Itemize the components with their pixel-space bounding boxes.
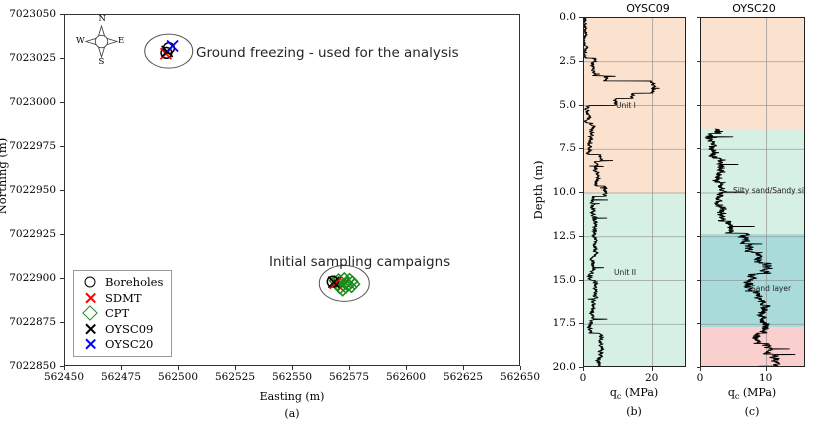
panel-c-title: OYSC20 bbox=[700, 2, 808, 15]
panel-b-ytick-label: 17.5 bbox=[553, 317, 576, 329]
x-marker-icon-blue bbox=[79, 337, 101, 352]
panel-a-ytick-label: 7022975 bbox=[9, 140, 56, 152]
panel-b-cpt-axes: Unit I Unit II bbox=[583, 17, 686, 367]
panel-b-xlabel-q: q bbox=[610, 386, 617, 399]
panel-a-xtick-label: 562450 bbox=[44, 371, 84, 383]
panel-a-xtick-label: 562500 bbox=[158, 371, 198, 383]
panel-a-ytick-mark bbox=[60, 102, 64, 103]
panel-a-ytick-label: 7023025 bbox=[9, 52, 56, 64]
cpt-qc-trace bbox=[584, 18, 659, 367]
panel-a-xlabel: Easting (m) bbox=[260, 390, 325, 403]
panel-c-caption: (c) bbox=[745, 405, 760, 418]
legend-label-cpt: CPT bbox=[105, 306, 129, 320]
panel-a-ytick-mark bbox=[60, 146, 64, 147]
panel-c-xtick-label: 10 bbox=[759, 372, 772, 384]
panel-a-xtick-label: 562550 bbox=[272, 371, 312, 383]
panel-b-ytick-mark bbox=[579, 105, 583, 106]
panel-c-ytick-mark bbox=[697, 192, 700, 193]
panel-c-xlabel-unit: (MPa) bbox=[739, 386, 776, 399]
panel-a-xtick-label: 562575 bbox=[329, 371, 369, 383]
legend-item-boreholes[interactable]: Boreholes bbox=[79, 275, 163, 291]
panel-b-xtick-label: 0 bbox=[580, 372, 587, 384]
panel-b-ytick-mark bbox=[579, 61, 583, 62]
panel-c-ytick-mark bbox=[697, 236, 700, 237]
panel-a-xtick-mark bbox=[292, 366, 293, 370]
panel-b-ytick-mark bbox=[579, 17, 583, 18]
panel-c-ytick-mark bbox=[697, 105, 700, 106]
panel-c-label-silty-sand: Silty sand/Sandy silt bbox=[733, 186, 805, 195]
panel-a-ytick-label: 7022875 bbox=[9, 316, 56, 328]
panel-a-caption: (a) bbox=[284, 407, 299, 420]
x-marker-icon-red bbox=[79, 290, 101, 305]
compass-west-label: W bbox=[76, 36, 85, 46]
compass-north-label: N bbox=[99, 14, 106, 24]
panel-c-label-sand-layer: Sand layer bbox=[751, 284, 791, 293]
panel-c-xtick-label: 0 bbox=[697, 372, 704, 384]
panel-b-unit-i-label: Unit I bbox=[616, 101, 636, 110]
panel-b-ytick-label: 10.0 bbox=[553, 186, 576, 198]
map-legend: Boreholes SDMT CPT OYSC09 bbox=[73, 270, 172, 358]
panel-a-ytick-label: 7022925 bbox=[9, 228, 56, 240]
panel-a-xtick-label: 562650 bbox=[500, 371, 540, 383]
legend-item-oysc09[interactable]: OYSC09 bbox=[79, 321, 163, 337]
panel-b-caption: (b) bbox=[626, 405, 642, 418]
panel-b-ytick-label: 7.5 bbox=[559, 142, 576, 154]
panel-b-ytick-label: 20.0 bbox=[553, 361, 576, 373]
panel-b-unit-ii-label: Unit II bbox=[614, 268, 636, 277]
panel-b-ytick-label: 12.5 bbox=[553, 230, 576, 242]
figure-root: Northing (m) N S E W Ground freezing - u… bbox=[0, 0, 813, 428]
panel-c-ytick-mark bbox=[697, 323, 700, 324]
panel-b-ytick-mark bbox=[579, 323, 583, 324]
panel-b-ytick-mark bbox=[579, 280, 583, 281]
legend-item-sdmt[interactable]: SDMT bbox=[79, 290, 163, 306]
panel-a-xtick-mark bbox=[349, 366, 350, 370]
panel-b-ytick-label: 5.0 bbox=[559, 99, 576, 111]
panel-b-xtick-mark bbox=[652, 367, 653, 371]
panel-b-xlabel: qc (MPa) bbox=[610, 386, 658, 401]
legend-item-cpt[interactable]: CPT bbox=[79, 306, 163, 322]
panel-a-xtick-mark bbox=[64, 366, 65, 370]
panel-a-ytick-mark bbox=[60, 322, 64, 323]
cpt-qc-trace bbox=[705, 129, 795, 367]
annotation-ground-freezing: Ground freezing - used for the analysis bbox=[196, 45, 459, 61]
panel-a-xtick-mark bbox=[178, 366, 179, 370]
diamond-marker-icon bbox=[79, 306, 101, 321]
panel-a-map-axes: N S E W Ground freezing - used for the a… bbox=[64, 14, 520, 366]
panel-c-ytick-mark bbox=[697, 61, 700, 62]
panel-a-ytick-mark bbox=[60, 58, 64, 59]
legend-label-oysc20: OYSC20 bbox=[105, 337, 153, 351]
panel-b-ytick-mark bbox=[579, 236, 583, 237]
panel-a-ytick-mark bbox=[60, 366, 64, 367]
panel-c-xlabel: qc (MPa) bbox=[728, 386, 776, 401]
legend-label-boreholes: Boreholes bbox=[105, 275, 163, 289]
panel-b-ylabel: Depth (m) bbox=[531, 161, 545, 220]
panel-a-xtick-label: 562625 bbox=[443, 371, 483, 383]
annotation-initial-sampling: Initial sampling campaigns bbox=[269, 254, 450, 270]
panel-a-xtick-mark bbox=[406, 366, 407, 370]
panel-a-ylabel: Northing (m) bbox=[0, 138, 9, 215]
panel-b-plot-svg bbox=[584, 18, 686, 367]
panel-b-xtick-mark bbox=[583, 367, 584, 371]
panel-c-xtick-mark bbox=[766, 367, 767, 371]
panel-a-xtick-mark bbox=[463, 366, 464, 370]
panel-c-cpt-axes: Silty sand/Sandy silt Sand layer bbox=[700, 17, 805, 367]
panel-b-ytick-mark bbox=[579, 192, 583, 193]
panel-a-xtick-mark bbox=[235, 366, 236, 370]
panel-b-ytick-label: 0.0 bbox=[559, 11, 576, 23]
panel-c-ytick-mark bbox=[697, 148, 700, 149]
panel-a-ytick-mark bbox=[60, 190, 64, 191]
panel-a-ytick-label: 7022850 bbox=[9, 360, 56, 372]
compass-rose: N S E W bbox=[83, 23, 120, 60]
panel-a-ytick-label: 7023000 bbox=[9, 96, 56, 108]
panel-c-xlabel-q: q bbox=[728, 386, 735, 399]
legend-label-sdmt: SDMT bbox=[105, 291, 142, 305]
panel-b-xtick-label: 20 bbox=[645, 372, 658, 384]
panel-a-xtick-label: 562475 bbox=[101, 371, 141, 383]
panel-b-title: OYSC09 bbox=[583, 2, 713, 15]
panel-b-ytick-label: 15.0 bbox=[553, 274, 576, 286]
panel-a-ytick-label: 7022950 bbox=[9, 184, 56, 196]
panel-b-xlabel-unit: (MPa) bbox=[621, 386, 658, 399]
panel-b-ytick-label: 2.5 bbox=[559, 55, 576, 67]
legend-label-oysc09: OYSC09 bbox=[105, 322, 153, 336]
legend-item-oysc20[interactable]: OYSC20 bbox=[79, 337, 163, 353]
panel-a-xtick-label: 562600 bbox=[386, 371, 426, 383]
panel-a-ytick-mark bbox=[60, 278, 64, 279]
panel-c-ytick-mark bbox=[697, 17, 700, 18]
panel-c-xtick-mark bbox=[700, 367, 701, 371]
panel-b-ytick-mark bbox=[579, 148, 583, 149]
panel-a-ytick-mark bbox=[60, 234, 64, 235]
panel-a-ytick-label: 7022900 bbox=[9, 272, 56, 284]
compass-east-label: E bbox=[118, 36, 124, 46]
panel-a-ytick-mark bbox=[60, 14, 64, 15]
panel-c-ytick-mark bbox=[697, 280, 700, 281]
panel-a-xtick-mark bbox=[520, 366, 521, 370]
panel-a-ytick-label: 7023050 bbox=[9, 8, 56, 20]
compass-south-label: S bbox=[99, 57, 105, 67]
x-marker-icon-black bbox=[79, 321, 101, 336]
panel-a-xtick-mark bbox=[121, 366, 122, 370]
circle-marker-icon bbox=[79, 275, 101, 290]
panel-a-xtick-label: 562525 bbox=[215, 371, 255, 383]
